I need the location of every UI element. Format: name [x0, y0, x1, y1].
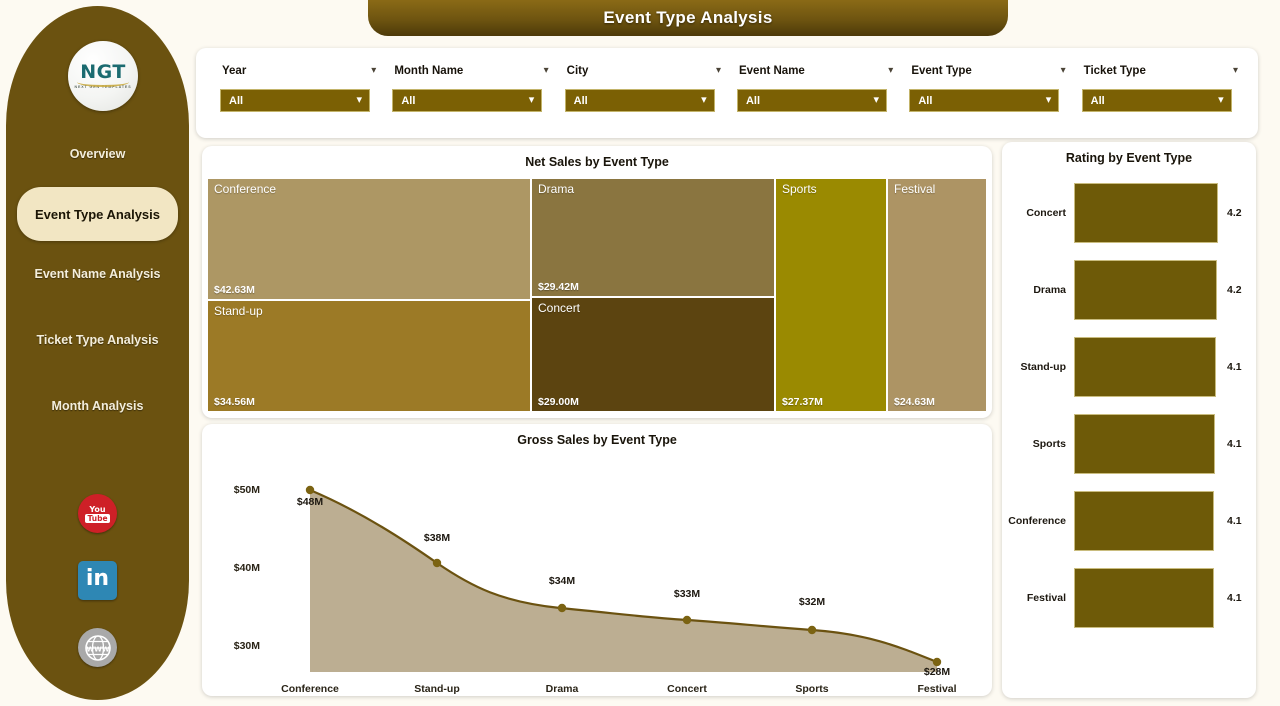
filter-label: Event Type	[911, 65, 972, 77]
bar-value-label: 4.2	[1220, 284, 1242, 296]
sidebar-item-event-name-analysis[interactable]: Event Name Analysis	[6, 241, 189, 307]
area-chart-svg[interactable]	[202, 450, 992, 696]
sidebar: NGT NEXT GEN TEMPLATES Overview Event Ty…	[6, 6, 189, 700]
tile-label: Conference	[214, 182, 276, 196]
chart-title: Gross Sales by Event Type	[202, 424, 992, 447]
data-point[interactable]	[808, 626, 816, 634]
data-point[interactable]	[933, 658, 941, 666]
rating-row[interactable]: Stand-up 4.1	[1002, 328, 1256, 405]
rating-row[interactable]: Sports 4.1	[1002, 405, 1256, 482]
filter-dropdown[interactable]: All ▾	[565, 89, 715, 112]
x-tick-label: Stand-up	[392, 683, 482, 695]
bar[interactable]	[1074, 337, 1216, 397]
area-chart: $50M $40M $30M $48M $38M $34M $33M $32M …	[202, 450, 992, 696]
treemap-tile-stand-up[interactable]: Stand-up $34.56M	[207, 300, 531, 412]
tile-value: $24.63M	[894, 396, 935, 408]
bar[interactable]	[1074, 260, 1217, 320]
data-label: $34M	[534, 575, 590, 587]
data-point[interactable]	[433, 559, 441, 567]
website-icon[interactable]: WWW	[78, 628, 117, 667]
sidebar-item-event-type-analysis[interactable]: Event Type Analysis	[17, 187, 178, 241]
data-point[interactable]	[683, 616, 691, 624]
chevron-down-icon[interactable]: ▾	[544, 66, 549, 76]
bar-value-label: 4.2	[1220, 207, 1242, 219]
bar[interactable]	[1074, 568, 1214, 628]
filter-bar: Year ▾ All ▾ Month Name ▾ All ▾	[196, 48, 1258, 138]
filter-value: All	[918, 95, 932, 107]
chart-title: Net Sales by Event Type	[202, 146, 992, 169]
bar[interactable]	[1074, 491, 1214, 551]
linkedin-label: in	[86, 568, 109, 590]
treemap-tile-sports[interactable]: Sports $27.37M	[775, 178, 887, 412]
data-label: $38M	[409, 532, 465, 544]
dashboard-root: NGT NEXT GEN TEMPLATES Overview Event Ty…	[0, 0, 1280, 706]
chart-title: Rating by Event Type	[1002, 142, 1256, 165]
filter-month-name[interactable]: Month Name ▾ All ▾	[382, 60, 554, 112]
tile-label: Festival	[894, 182, 935, 196]
filter-label: Ticket Type	[1084, 65, 1146, 77]
treemap-tile-drama[interactable]: Drama $29.42M	[531, 178, 775, 297]
sidebar-item-label: Event Type Analysis	[35, 207, 160, 222]
chevron-down-icon: ▾	[529, 95, 535, 106]
tile-label: Stand-up	[214, 304, 263, 318]
x-tick-label: Conference	[265, 683, 355, 695]
social-links: You Tube in WWW	[6, 494, 189, 667]
bar-category-label: Festival	[1002, 592, 1074, 604]
sidebar-item-label: Overview	[70, 147, 126, 161]
globe-glyph: WWW	[83, 633, 113, 663]
area-fill	[310, 490, 937, 672]
sidebar-item-label: Month Analysis	[52, 399, 144, 413]
data-label: $28M	[909, 666, 965, 678]
sidebar-item-ticket-type-analysis[interactable]: Ticket Type Analysis	[6, 307, 189, 373]
treemap-tile-festival[interactable]: Festival $24.63M	[887, 178, 987, 412]
x-tick-label: Festival	[892, 683, 982, 695]
tile-value: $29.00M	[538, 396, 579, 408]
chevron-down-icon: ▾	[873, 95, 879, 106]
rating-bars: Concert 4.2 Drama 4.2 Stand-up 4.1 Sport…	[1002, 174, 1256, 636]
sidebar-nav: Overview Event Type Analysis Event Name …	[6, 121, 189, 439]
gross-sales-area-card: Gross Sales by Event Type $50M $40M $30M…	[202, 424, 992, 696]
youtube-icon[interactable]: You Tube	[78, 494, 117, 533]
filter-year[interactable]: Year ▾ All ▾	[210, 60, 382, 112]
page-title: Event Type Analysis	[368, 0, 1008, 36]
filter-value: All	[1091, 95, 1105, 107]
rating-row[interactable]: Festival 4.1	[1002, 559, 1256, 636]
filter-city[interactable]: City ▾ All ▾	[555, 60, 727, 112]
bar-category-label: Sports	[1002, 438, 1074, 450]
logo-swoosh-icon	[77, 77, 129, 87]
chevron-down-icon: ▾	[1046, 95, 1052, 106]
linkedin-icon[interactable]: in	[78, 561, 117, 600]
filter-value: All	[574, 95, 588, 107]
filter-event-type[interactable]: Event Type ▾ All ▾	[899, 60, 1071, 112]
svg-text:WWW: WWW	[86, 645, 109, 653]
filter-dropdown[interactable]: All ▾	[909, 89, 1059, 112]
filter-dropdown[interactable]: All ▾	[392, 89, 542, 112]
tile-value: $34.56M	[214, 396, 255, 408]
bar[interactable]	[1074, 183, 1218, 243]
chevron-down-icon: ▾	[701, 95, 707, 106]
chevron-down-icon[interactable]: ▾	[888, 66, 893, 76]
filter-value: All	[401, 95, 415, 107]
treemap-tile-conference[interactable]: Conference $42.63M	[207, 178, 531, 300]
filter-label: City	[567, 65, 589, 77]
tile-value: $27.37M	[782, 396, 823, 408]
x-tick-label: Sports	[767, 683, 857, 695]
bar-category-label: Drama	[1002, 284, 1074, 296]
chevron-down-icon[interactable]: ▾	[371, 66, 376, 76]
tile-label: Drama	[538, 182, 574, 196]
chevron-down-icon: ▾	[356, 95, 362, 106]
bar-category-label: Conference	[1002, 515, 1074, 527]
chevron-down-icon[interactable]: ▾	[1061, 66, 1066, 76]
bar-value-label: 4.1	[1220, 438, 1242, 450]
tile-value: $29.42M	[538, 281, 579, 293]
chevron-down-icon[interactable]: ▾	[1233, 66, 1238, 76]
sidebar-item-label: Event Name Analysis	[35, 267, 161, 281]
net-sales-treemap-card: Net Sales by Event Type Conference $42.6…	[202, 146, 992, 418]
data-label: $48M	[282, 496, 338, 508]
rating-row[interactable]: Drama 4.2	[1002, 251, 1256, 328]
bar-value-label: 4.1	[1220, 515, 1242, 527]
tile-label: Concert	[538, 301, 580, 315]
rating-row[interactable]: Concert 4.2	[1002, 174, 1256, 251]
x-tick-label: Drama	[517, 683, 607, 695]
bar-value-label: 4.1	[1220, 592, 1242, 604]
ngt-logo: NGT NEXT GEN TEMPLATES	[68, 41, 138, 111]
data-point[interactable]	[306, 486, 314, 494]
data-point[interactable]	[558, 604, 566, 612]
treemap: Conference $42.63M Stand-up $34.56M Dram…	[207, 178, 987, 412]
bar[interactable]	[1074, 414, 1215, 474]
filter-event-name[interactable]: Event Name ▾ All ▾	[727, 60, 899, 112]
sidebar-item-month-analysis[interactable]: Month Analysis	[6, 373, 189, 439]
chevron-down-icon: ▾	[1218, 95, 1224, 106]
filter-value: All	[746, 95, 760, 107]
filter-label: Year	[222, 65, 246, 77]
x-tick-label: Concert	[642, 683, 732, 695]
tile-label: Sports	[782, 182, 817, 196]
data-label: $32M	[784, 596, 840, 608]
sidebar-item-overview[interactable]: Overview	[6, 121, 189, 187]
filter-label: Event Name	[739, 65, 805, 77]
treemap-tile-concert[interactable]: Concert $29.00M	[531, 297, 775, 412]
bar-category-label: Concert	[1002, 207, 1074, 219]
filter-value: All	[229, 95, 243, 107]
sidebar-item-label: Ticket Type Analysis	[36, 333, 158, 347]
filter-label: Month Name	[394, 65, 463, 77]
youtube-top-text: You	[89, 505, 105, 514]
filter-dropdown[interactable]: All ▾	[737, 89, 887, 112]
filter-ticket-type[interactable]: Ticket Type ▾ All ▾	[1072, 60, 1244, 112]
rating-bar-card: Rating by Event Type Concert 4.2 Drama 4…	[1002, 142, 1256, 698]
tile-value: $42.63M	[214, 284, 255, 296]
data-label: $33M	[659, 588, 715, 600]
youtube-bottom-text: Tube	[85, 514, 109, 523]
rating-row[interactable]: Conference 4.1	[1002, 482, 1256, 559]
bar-value-label: 4.1	[1220, 361, 1242, 373]
bar-category-label: Stand-up	[1002, 361, 1074, 373]
filter-dropdown[interactable]: All ▾	[220, 89, 370, 112]
chevron-down-icon[interactable]: ▾	[716, 66, 721, 76]
filter-dropdown[interactable]: All ▾	[1082, 89, 1232, 112]
